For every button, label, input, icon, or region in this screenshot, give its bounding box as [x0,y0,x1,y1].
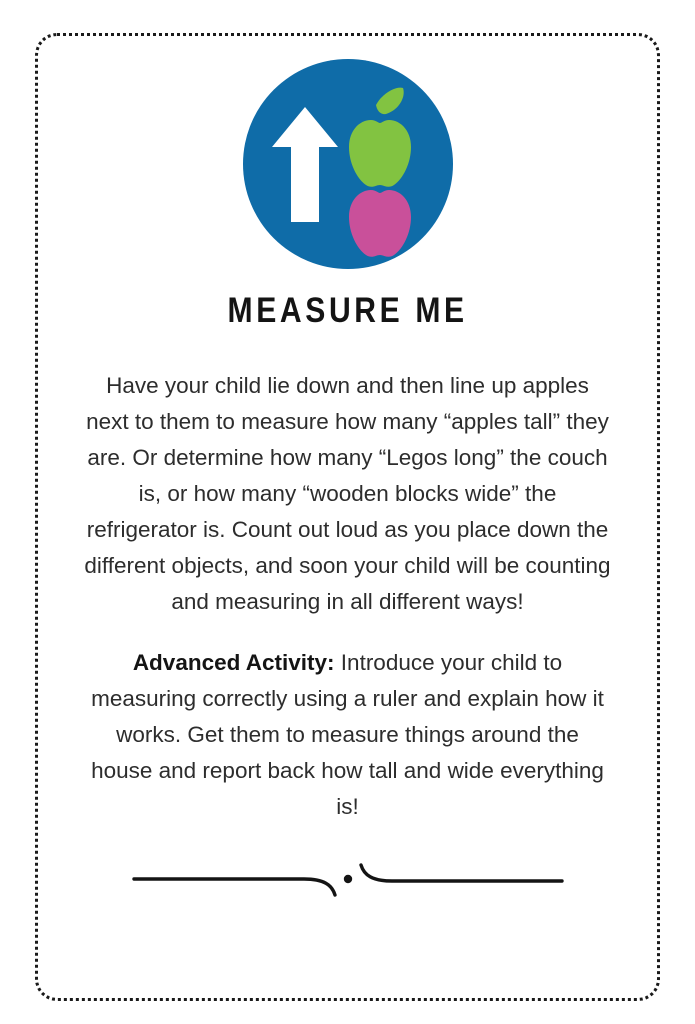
swash-divider-icon [132,859,564,899]
page-root: MEASURE ME Have your child lie down and … [0,0,695,1024]
divider-left-stroke [134,879,335,895]
page-title: MEASURE ME [227,293,467,328]
paragraph-main: Have your child lie down and then line u… [83,368,613,620]
advanced-activity-text: Introduce your child to measuring correc… [91,650,604,819]
apple-green-shape [349,120,411,187]
activity-description: Have your child lie down and then line u… [83,368,613,825]
measure-apples-badge-icon [243,59,453,269]
apple-pink-shape [349,190,411,257]
advanced-activity-label: Advanced Activity: [133,650,335,675]
activity-card: MEASURE ME Have your child lie down and … [35,33,660,1001]
card-content: MEASURE ME Have your child lie down and … [38,36,657,998]
divider-dot-shape [343,875,351,883]
paragraph-advanced: Advanced Activity: Introduce your child … [83,645,613,825]
divider-right-stroke [361,865,562,881]
paragraph-main-text: Have your child lie down and then line u… [84,373,610,614]
badge-circle-shape [243,59,453,269]
